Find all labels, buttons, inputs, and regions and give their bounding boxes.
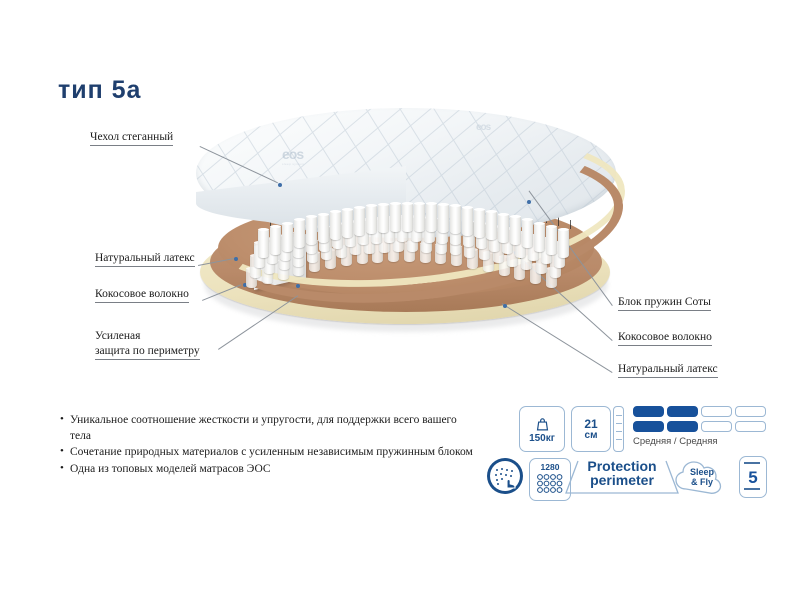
pocket-spring <box>258 228 269 258</box>
height-unit: см <box>585 430 598 441</box>
fabric-touch-badge <box>487 458 523 494</box>
protection-trapezoid <box>564 459 680 495</box>
hardness-pill <box>667 421 698 432</box>
callout-natural-latex-right: Натуральный латекс <box>618 362 718 378</box>
callout-coconut-fiber: Кокосовое волокно <box>95 287 189 303</box>
hardness-pill <box>633 421 664 432</box>
pocket-spring <box>390 202 401 232</box>
callout-coconut-fiber-right-label: Кокосовое волокно <box>618 330 712 346</box>
list-item: Сочетание природных материалов с усиленн… <box>60 445 480 461</box>
pocket-spring <box>534 222 545 252</box>
list-item: Одна из топовых моделей матрасов ЭОС <box>60 462 480 478</box>
page-title: тип 5а <box>58 76 141 105</box>
pocket-spring <box>546 225 557 255</box>
warranty-years-badge: 5 <box>739 456 767 498</box>
callout-spring-block: Блок пружин Соты <box>618 295 711 311</box>
pocket-spring <box>342 208 353 238</box>
callout-perimeter: Усиленая защита по периметру <box>95 329 200 360</box>
pocket-spring <box>486 210 497 240</box>
hardness-pill <box>701 406 732 417</box>
callout-perimeter-line1: Усиленая <box>95 329 200 344</box>
sleep-line2: & Fly <box>673 478 731 488</box>
leader-dot-perimeter <box>296 284 300 288</box>
height-badge: 21 см <box>571 406 611 452</box>
hardness-pill <box>735 421 766 432</box>
feature-list: Уникальное соотношение жесткости и упруг… <box>60 413 480 478</box>
list-item: Уникальное соотношение жесткости и упруг… <box>60 413 480 444</box>
hardness-label: Средняя / Средняя <box>633 436 718 447</box>
leader-dot-latex-right <box>503 304 507 308</box>
callout-coconut-fiber-label: Кокосовое волокно <box>95 287 189 303</box>
pocket-spring <box>510 215 521 245</box>
pocket-spring <box>498 213 509 243</box>
pocket-spring <box>450 204 461 234</box>
leader-dot-springs <box>527 200 531 204</box>
pocket-spring <box>426 202 437 232</box>
pocket-spring <box>438 203 449 233</box>
callout-perimeter-line2: защита по периметру <box>95 344 200 360</box>
callout-natural-latex-label: Натуральный латекс <box>95 251 195 267</box>
pocket-spring <box>354 206 365 236</box>
springs-count-value: 1280 <box>541 462 560 472</box>
pocket-spring <box>330 210 341 240</box>
springs-grid-icon <box>535 473 565 495</box>
pocket-spring <box>462 206 473 236</box>
pocket-spring <box>270 225 281 255</box>
ruler-icon <box>613 406 624 452</box>
callout-spring-block-label: Блок пружин Соты <box>618 295 711 311</box>
weight-icon <box>534 415 551 432</box>
max-load-value: 150кг <box>529 434 555 444</box>
pocket-spring <box>306 215 317 245</box>
callout-natural-latex-right-label: Натуральный латекс <box>618 362 718 378</box>
callout-coconut-fiber-right: Кокосовое волокно <box>618 330 712 346</box>
hardness-pill <box>735 406 766 417</box>
pocket-spring <box>294 218 305 248</box>
pocket-spring <box>282 222 293 252</box>
pocket-spring <box>558 228 569 258</box>
pocket-spring <box>318 213 329 243</box>
product-infographic: тип 5а eossleep system eos Чехол стеганн… <box>0 0 800 592</box>
pocket-spring <box>414 202 425 232</box>
callout-quilted-cover-label: Чехол стеганный <box>90 130 173 146</box>
sleep-and-fly-text: Sleep & Fly <box>673 468 731 487</box>
pocket-spring <box>522 218 533 248</box>
hardness-pill <box>667 406 698 417</box>
pocket-spring <box>402 202 413 232</box>
callout-quilted-cover: Чехол стеганный <box>90 130 173 146</box>
pocket-spring <box>366 204 377 234</box>
hardness-pill <box>633 406 664 417</box>
leader-dot-cover <box>278 183 282 187</box>
eos-watermark-secondary: eos <box>476 122 490 133</box>
warranty-frame-icon <box>741 459 763 493</box>
leader-dot-latex <box>234 257 238 261</box>
spec-icons: 150кг 21 см Средняя / Средняя <box>505 402 790 512</box>
pocket-spring <box>378 203 389 233</box>
hand-touch-icon <box>487 458 523 494</box>
height-value: 21 <box>584 418 597 430</box>
pocket-spring <box>474 208 485 238</box>
max-load-badge: 150кг <box>519 406 565 452</box>
callout-natural-latex: Натуральный латекс <box>95 251 195 267</box>
hardness-pill <box>701 421 732 432</box>
